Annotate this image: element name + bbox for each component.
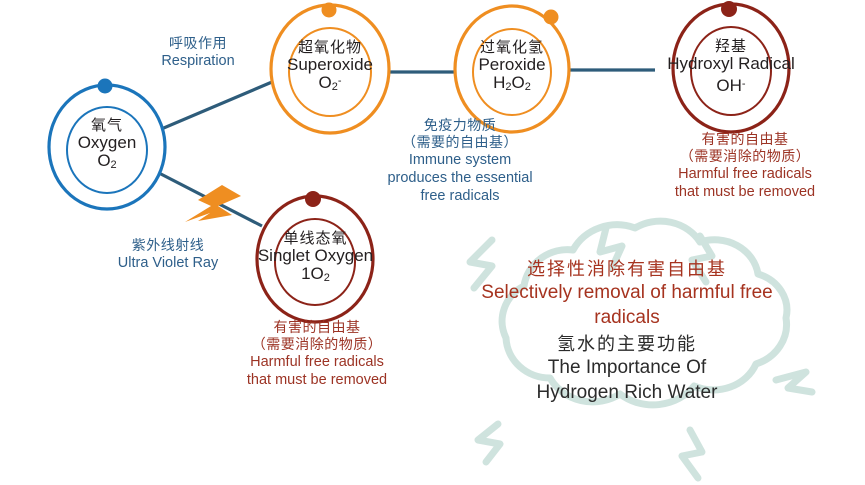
node-label-peroxide: 过氧化氢 Peroxide H2O2	[442, 39, 582, 93]
node-en-hydroxyl: Hydroxyl Radical	[641, 55, 821, 74]
caption-harmful-right-en2: that must be removed	[650, 184, 840, 202]
caption-harmful-left-cn2: （需要消除的物质）	[223, 337, 411, 354]
caption-harmful-left-en2: that must be removed	[223, 372, 411, 390]
cloud-sub-en2: Hydrogen Rich Water	[452, 381, 802, 406]
caption-immune: 免疫力物质 （需要的自由基） Immune system produces th…	[370, 118, 550, 205]
caption-respiration: 呼吸作用 Respiration	[128, 36, 268, 71]
caption-immune-cn2: （需要的自由基）	[370, 135, 550, 152]
node-cn-superoxide: 超氧化物	[255, 39, 405, 56]
cloud-heading-en1: Selectively removal of harmful free	[452, 281, 802, 306]
caption-uv-ray-en: Ultra Violet Ray	[88, 255, 248, 273]
caption-harmful-left: 有害的自由基 （需要消除的物质） Harmful free radicals t…	[223, 320, 411, 390]
caption-harmful-right: 有害的自由基 （需要消除的物质） Harmful free radicals t…	[650, 132, 840, 202]
caption-immune-en3: free radicals	[370, 188, 550, 206]
node-label-singlet: 单线态氧 Singlet Oxygen 1O2	[233, 230, 398, 284]
node-en-superoxide: Superoxide	[255, 56, 405, 75]
caption-immune-en1: Immune system	[370, 152, 550, 170]
electron-dot-superoxide	[322, 3, 337, 18]
node-cn-hydroxyl: 羟基	[641, 38, 821, 55]
cloud-sub-cn: 氢水的主要功能	[452, 333, 802, 356]
caption-harmful-left-en1: Harmful free radicals	[223, 354, 411, 372]
cloud-sub-en1: The Importance Of	[452, 356, 802, 381]
caption-harmful-left-cn1: 有害的自由基	[223, 320, 411, 337]
cloud-heading-cn: 选择性消除有害自由基	[452, 258, 802, 281]
node-en-peroxide: Peroxide	[442, 56, 582, 75]
caption-immune-cn1: 免疫力物质	[370, 118, 550, 135]
node-formula-oxygen: O2	[37, 152, 177, 171]
node-formula-singlet: 1O2	[233, 265, 398, 284]
caption-respiration-en: Respiration	[128, 53, 268, 71]
caption-harmful-right-cn2: （需要消除的物质）	[650, 149, 840, 166]
node-en-oxygen: Oxygen	[37, 134, 177, 153]
node-formula-peroxide: H2O2	[442, 74, 582, 93]
node-formula-hydroxyl: OH-	[641, 77, 821, 96]
caption-uv-ray-cn: 紫外线射线	[88, 238, 248, 255]
caption-immune-en2: produces the essential	[370, 170, 550, 188]
cloud-message: 选择性消除有害自由基 Selectively removal of harmfu…	[452, 258, 802, 406]
caption-respiration-cn: 呼吸作用	[128, 36, 268, 53]
node-en-singlet: Singlet Oxygen	[233, 247, 398, 266]
caption-uv-ray: 紫外线射线 Ultra Violet Ray	[88, 238, 248, 273]
diagram-canvas: 氧气 Oxygen O2 超氧化物 Superoxide O2- 过氧化氢 Pe…	[0, 0, 865, 485]
electron-dot-hydroxyl	[721, 1, 737, 17]
node-label-oxygen: 氧气 Oxygen O2	[37, 117, 177, 171]
node-cn-singlet: 单线态氧	[233, 230, 398, 247]
node-label-hydroxyl: 羟基 Hydroxyl Radical OH-	[641, 38, 821, 96]
electron-dot-peroxide	[544, 10, 559, 25]
caption-harmful-right-en1: Harmful free radicals	[650, 166, 840, 184]
node-cn-peroxide: 过氧化氢	[442, 39, 582, 56]
caption-harmful-right-cn1: 有害的自由基	[650, 132, 840, 149]
cloud-heading-en2: radicals	[452, 306, 802, 331]
node-cn-oxygen: 氧气	[37, 117, 177, 134]
electron-dot-oxygen	[98, 79, 113, 94]
node-label-superoxide: 超氧化物 Superoxide O2-	[255, 39, 405, 93]
node-formula-superoxide: O2-	[255, 74, 405, 93]
electron-dot-singlet	[305, 191, 321, 207]
